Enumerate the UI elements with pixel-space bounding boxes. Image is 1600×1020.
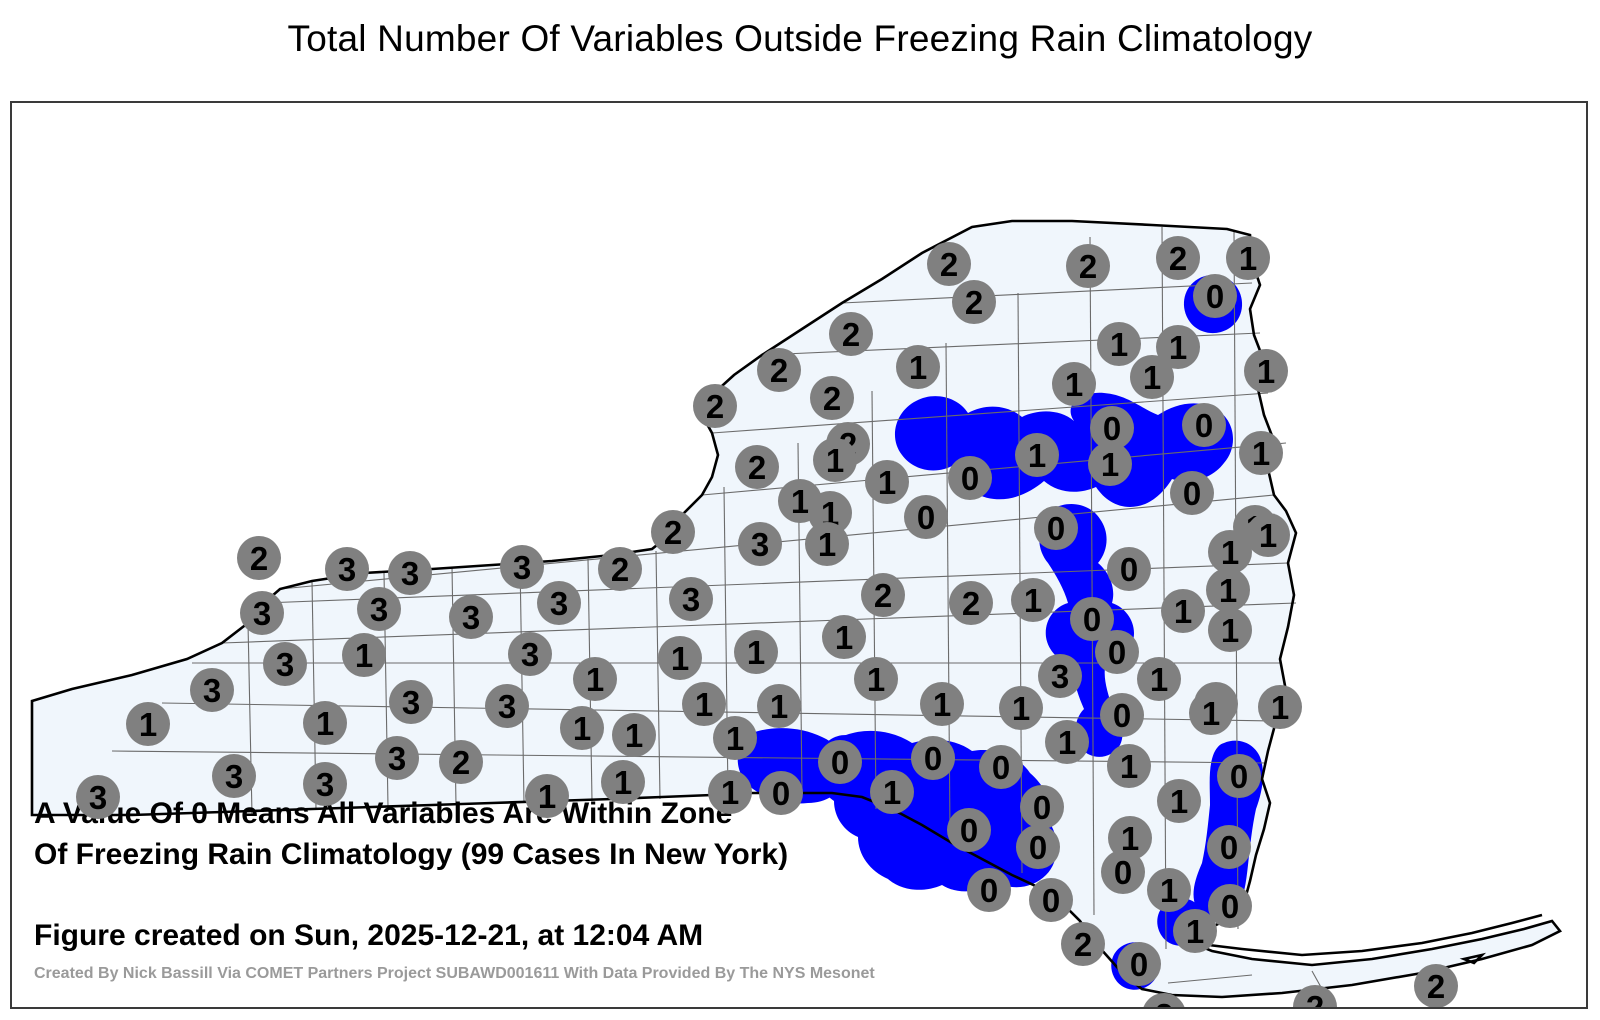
station-marker: 3: [537, 581, 581, 625]
station-marker: 2: [829, 312, 873, 356]
station-marker: 0: [1095, 630, 1139, 674]
station-marker: 1: [601, 760, 645, 804]
legend-note: A Value Of 0 Means All Variables Are Wit…: [34, 793, 788, 875]
station-marker: 1: [1147, 868, 1191, 912]
station-marker: 1: [1173, 909, 1217, 953]
station-marker: 3: [375, 736, 419, 780]
station-marker: 1: [682, 682, 726, 726]
station-marker: 0: [911, 736, 955, 780]
station-marker: 1: [658, 636, 702, 680]
station-marker: 2: [861, 573, 905, 617]
credit-line: Created By Nick Bassill Via COMET Partne…: [34, 965, 875, 983]
station-marker: 2: [1061, 922, 1105, 966]
station-marker: 0: [759, 771, 803, 815]
page-title: Total Number Of Variables Outside Freezi…: [0, 18, 1600, 60]
station-marker: 3: [325, 547, 369, 591]
station-marker: 3: [485, 684, 529, 728]
station-marker: 1: [813, 438, 857, 482]
station-marker: 1: [1206, 568, 1250, 612]
station-marker: 1: [525, 774, 569, 818]
station-marker: 1: [1161, 589, 1205, 633]
station-marker: 1: [1239, 431, 1283, 475]
station-marker: 3: [263, 642, 307, 686]
station-marker: 1: [573, 657, 617, 701]
station-marker: 0: [1217, 754, 1261, 798]
station-marker: 2: [693, 384, 737, 428]
station-marker: 0: [1193, 274, 1237, 318]
station-marker: 1: [822, 615, 866, 659]
station-marker: 0: [1029, 878, 1073, 922]
station-marker: 3: [738, 522, 782, 566]
station-marker: 0: [1107, 547, 1151, 591]
station-marker: 1: [1097, 322, 1141, 366]
map-frame: A Value Of 0 Means All Variables Are Wit…: [10, 101, 1588, 1009]
station-marker: 1: [734, 630, 778, 674]
station-marker: 1: [708, 770, 752, 814]
station-marker: 1: [1130, 355, 1174, 399]
station-marker: 1: [870, 770, 914, 814]
station-marker: 1: [303, 701, 347, 745]
station-marker: 2: [598, 547, 642, 591]
station-marker: 3: [76, 775, 120, 819]
station-marker: 3: [669, 577, 713, 621]
station-marker: 2: [1066, 244, 1110, 288]
station-marker: 0: [979, 745, 1023, 789]
station-marker: 3: [240, 591, 284, 635]
station-marker: 1: [1189, 691, 1233, 735]
station-marker: 3: [357, 587, 401, 631]
station-marker: 2: [1414, 964, 1458, 1008]
station-marker: 3: [500, 545, 544, 589]
station-marker: 0: [1020, 785, 1064, 829]
station-marker: 0: [1182, 403, 1226, 447]
station-marker: 2: [735, 445, 779, 489]
station-marker: 3: [508, 632, 552, 676]
station-marker: 1: [1015, 433, 1059, 477]
station-marker: 2: [927, 242, 971, 286]
station-marker: 2: [757, 348, 801, 392]
station-marker: 3: [190, 668, 234, 712]
station-marker: 1: [1244, 349, 1288, 393]
station-marker: 3: [389, 680, 433, 724]
station-marker: 0: [818, 740, 862, 784]
station-marker: 2: [651, 510, 695, 554]
station-marker: 1: [1011, 578, 1055, 622]
station-marker: 2: [949, 581, 993, 625]
station-marker: 1: [1052, 362, 1096, 406]
station-marker: 1: [342, 633, 386, 677]
station-marker: 1: [1258, 685, 1302, 729]
station-marker: 3: [212, 754, 256, 798]
station-marker: 1: [805, 522, 849, 566]
station-marker: 1: [757, 684, 801, 728]
station-marker: 0: [1034, 506, 1078, 550]
station-marker: 0: [1100, 693, 1144, 737]
station-marker: 0: [1207, 825, 1251, 869]
station-marker: 0: [967, 868, 1011, 912]
station-marker: 1: [1226, 236, 1270, 280]
figure-root: Total Number Of Variables Outside Freezi…: [0, 0, 1600, 1020]
station-marker: 0: [1016, 825, 1060, 869]
station-marker: 2: [439, 740, 483, 784]
station-marker: 2: [237, 536, 281, 580]
station-marker: 2: [1156, 236, 1200, 280]
station-marker: 1: [1208, 608, 1252, 652]
station-marker: 0: [1101, 850, 1145, 894]
creation-timestamp: Figure created on Sun, 2025-12-21, at 12…: [34, 919, 703, 953]
station-marker: 0: [947, 808, 991, 852]
station-marker: 3: [449, 595, 493, 639]
station-marker: 1: [1246, 513, 1290, 557]
station-marker: 3: [388, 551, 432, 595]
station-marker: 2: [810, 376, 854, 420]
station-marker: 0: [904, 495, 948, 539]
station-marker: 1: [854, 657, 898, 701]
station-marker: 1: [920, 682, 964, 726]
station-marker: 1: [999, 686, 1043, 730]
station-marker: 1: [1088, 442, 1132, 486]
station-marker: 1: [126, 702, 170, 746]
station-marker: 3: [1038, 654, 1082, 698]
station-marker: 0: [1170, 471, 1214, 515]
station-marker: 0: [948, 456, 992, 500]
station-marker: 1: [865, 460, 909, 504]
station-marker: 1: [713, 716, 757, 760]
station-marker: 1: [1045, 720, 1089, 764]
station-marker: 0: [1117, 942, 1161, 986]
station-marker: 2: [952, 280, 996, 324]
station-marker: 1: [612, 713, 656, 757]
station-marker: 3: [303, 762, 347, 806]
station-marker: 1: [1107, 744, 1151, 788]
station-marker: 1: [1157, 779, 1201, 823]
station-marker: 1: [1137, 657, 1181, 701]
station-marker: 1: [896, 345, 940, 389]
station-marker: 1: [560, 706, 604, 750]
